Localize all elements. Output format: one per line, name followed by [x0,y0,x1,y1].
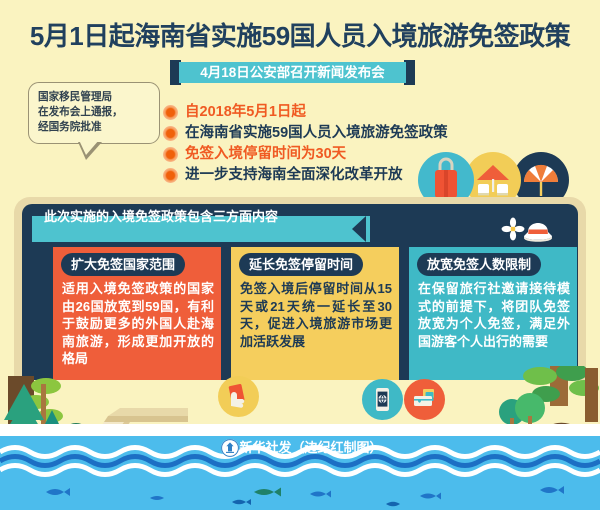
board-ribbon-notch [352,216,366,242]
list-item: 自2018年5月1日起 [163,102,493,123]
board-ribbon-label: 此次实施的入境免签政策包含三方面内容 [44,204,278,230]
list-item: 在海南省实施59国人员入境旅游免签政策 [163,123,493,144]
policy-card-expand-countries: 扩大免签国家范围 适用入境免签政策的国家由26国放宽到59国，有利于鼓励更多的外… [53,247,221,393]
page-title: 5月1日起海南省实施59国人员入境旅游免签政策 [0,16,600,53]
sub-banner-label: 4月18日公安部召开新闻发布会 [170,60,415,85]
passport-in-hand-icon [218,376,259,417]
credit-bar: 新华社发（边纪红制图） [0,436,600,460]
credit-label: 新华社发（边纪红制图） [0,436,600,460]
bullet-label: 在海南省实施59国人员入境旅游免签政策 [185,123,448,144]
speech-bubble-text: 国家移民管理局 在发布会上通报， 经国务院批准 [38,90,152,135]
mobile-globe-icon [362,379,403,420]
bullet-dot-icon [163,126,178,141]
card-body-text: 免签入境后停留时间从15天或21天统一延长至30天，促进入境旅游市场更加活跃发展 [240,280,392,350]
bullet-dot-icon [163,105,178,120]
infographic-canvas: 5月1日起海南省实施59国人员入境旅游免签政策 4月18日公安部召开新闻发布会 … [0,0,600,510]
sub-banner: 4月18日公安部召开新闻发布会 [170,60,415,85]
sun-hat-icon [500,210,566,246]
policy-card-extend-stay: 延长免签停留时间 免签入境后停留时间从15天或21天统一延长至30天，促进入境旅… [231,247,399,393]
card-body-text: 在保留旅行社邀请接待模式的前提下，将团队免签放宽为个人免签，满足外国游客个人出行… [418,280,570,350]
card-body-text: 适用入境免签政策的国家由26国放宽到59国，有利于鼓励更多的外国人赴海南旅游，形… [62,280,214,368]
card-title: 扩大免签国家范围 [61,253,185,276]
shore-strip [0,424,600,436]
card-title: 延长免签停留时间 [239,253,363,276]
card-title: 放宽免签人数限制 [417,253,541,276]
speech-bubble: 国家移民管理局 在发布会上通报， 经国务院批准 [28,82,160,144]
bullet-dot-icon [163,168,178,183]
bullet-label: 免签入境停留时间为30天 [185,144,346,165]
boarding-ticket-icon [404,379,445,420]
footer-scene: 新华社发（边纪红制图） [0,380,600,510]
bullet-label: 自2018年5月1日起 [185,102,306,123]
speech-bubble-tail-fill [79,140,99,155]
bullet-label: 进一步支持海南全面深化改革开放 [185,165,403,186]
bullet-dot-icon [163,147,178,162]
